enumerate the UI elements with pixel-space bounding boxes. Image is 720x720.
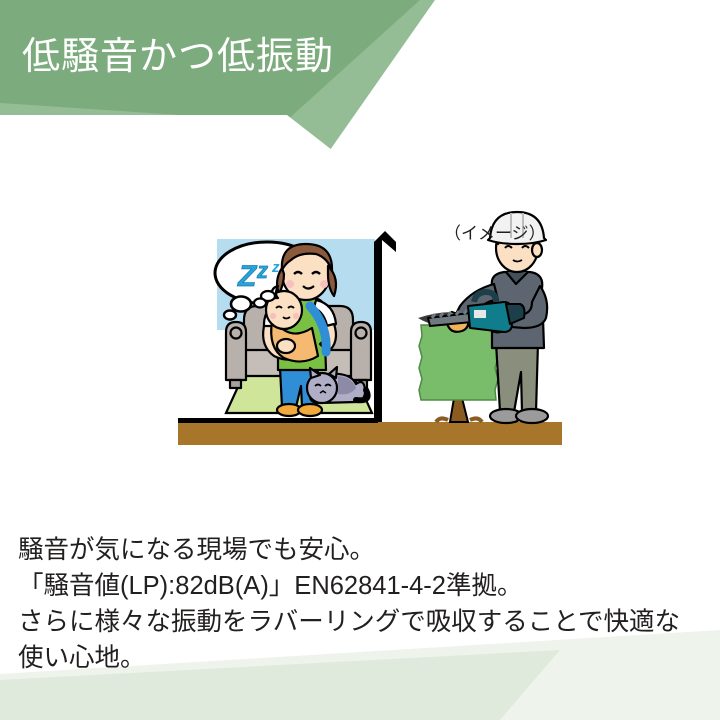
floor-line (178, 418, 378, 423)
slide-page: 低騒音かつ低振動 (0, 0, 720, 720)
body-line-3: さらに様々な振動をラバーリングで吸収することで快適な (18, 604, 708, 640)
svg-text:z: z (256, 258, 268, 283)
header-cut-white (0, 115, 332, 150)
bush-trunk (450, 398, 468, 422)
body-line-4: 使い心地。 (18, 640, 708, 676)
body-line-1: 騒音が気になる現場でも安心。 (18, 532, 708, 568)
image-caption: （イメージ） (444, 219, 546, 244)
body-line-2: 「騒音値(LP):82dB(A)」EN62841-4-2準拠。 (18, 568, 708, 604)
ground-strip (178, 422, 562, 445)
bush-foliage (419, 325, 498, 400)
body-copy: 騒音が気になる現場でも安心。 「騒音値(LP):82dB(A)」EN62841-… (18, 532, 708, 676)
zzz-text: Z (237, 260, 258, 293)
page-title: 低騒音かつ低振動 (22, 38, 334, 76)
